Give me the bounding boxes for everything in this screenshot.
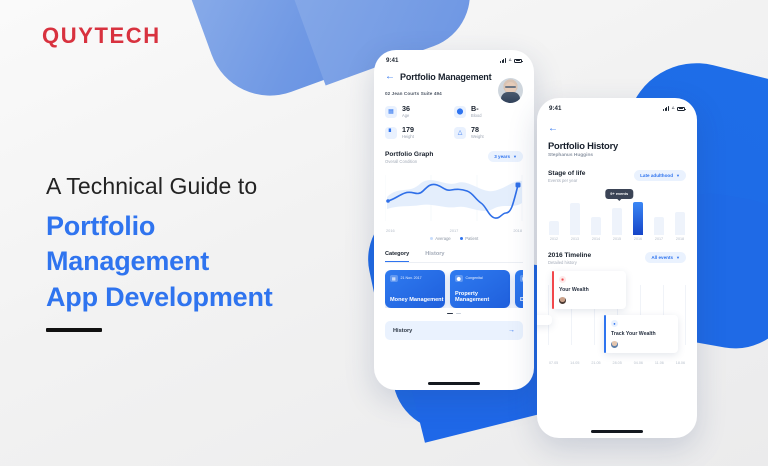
tab-category[interactable]: Category (385, 251, 409, 262)
card-meta-row: ▦ 21 Nov. 2017 (390, 275, 440, 283)
signal-bars-icon (500, 58, 506, 63)
wifi-icon: ▵ (672, 106, 675, 112)
bar-2015[interactable] (612, 208, 622, 235)
timeline-filter-dropdown[interactable]: All events ▼ (645, 252, 686, 263)
stat-blood-value: B- (471, 105, 481, 113)
stat-height-value: 179 (402, 126, 414, 134)
category-history-tabs: Category History (385, 251, 523, 263)
category-card-property[interactable]: ⬤ Congenital Property Management (450, 270, 510, 308)
timeline-tick-4: 04.06 (634, 361, 643, 365)
page-title: Portfolio Management (400, 72, 492, 82)
back-arrow-icon[interactable]: ← (385, 72, 395, 82)
carousel-dot-active[interactable] (447, 313, 453, 315)
bar-axis-2018: 2018 (675, 237, 685, 241)
phone1-content: 02 Jean Courts Suite 494 ▦ 36 Age ⬤ B- B… (374, 82, 534, 340)
status-time: 9:41 (549, 105, 561, 112)
battery-icon (677, 107, 685, 111)
graph-range-dropdown[interactable]: 3 years ▼ (488, 151, 523, 162)
legend-item-patient: Patient (460, 236, 479, 241)
status-bar: 9:41 ▵ (374, 50, 534, 66)
home-indicator (591, 430, 643, 433)
bar-tooltip: 9+ events (605, 189, 633, 199)
timeline-canvas: ✸ Your Wealth ● Track Your Wealth (548, 271, 686, 359)
timeline-date-axis: 07.05 14.05 21.05 28.05 04.06 11.06 18.0… (548, 361, 686, 365)
status-icons: ▵ (663, 106, 685, 112)
stage-filter-dropdown[interactable]: Late adulthood ▼ (634, 170, 686, 181)
bar-axis-2012: 2012 (549, 237, 559, 241)
stat-age: ▦ 36 Age (385, 105, 454, 118)
timeline-tick-3: 28.05 (613, 361, 622, 365)
stat-height-label: Height (402, 134, 414, 139)
status-icons: ▵ (500, 58, 522, 64)
timeline-tick-0: 07.05 (549, 361, 558, 365)
headline-line-3: App Development (46, 280, 366, 316)
stats-grid: ▦ 36 Age ⬤ B- Blood ▘ 179 (385, 105, 523, 139)
stat-age-label: Age (402, 113, 410, 118)
card-title: Money Management (390, 297, 443, 303)
phone-mockup-portfolio-history: 9:41 ▵ ← Portfolio History Stephanus Hug… (537, 98, 697, 438)
stat-weight: △ 78 Weight (454, 126, 523, 139)
history-button-label: History (393, 328, 412, 334)
timeline-event-track-your-wealth[interactable]: ● Track Your Wealth (604, 315, 678, 353)
weight-scale-icon: △ (454, 127, 466, 139)
card-date: 21 Nov. 2017 (401, 276, 422, 280)
calendar-icon: ▦ (385, 106, 397, 118)
history-button[interactable]: History → (385, 321, 523, 340)
legend-label-average: Average (435, 236, 451, 241)
bar-2013[interactable] (570, 203, 580, 235)
legend-label-patient: Patient (465, 236, 478, 241)
status-bar: 9:41 ▵ (537, 98, 697, 114)
legend-swatch-patient (460, 237, 463, 240)
card-meta: Congenital (466, 276, 483, 280)
avatar[interactable] (498, 78, 523, 103)
headline-line-2: Management (46, 244, 366, 280)
average-band-area (387, 180, 522, 211)
bar-axis-2013: 2013 (570, 237, 580, 241)
card-meta-row: ▦ Report (520, 275, 523, 283)
line-chart-axis: 2016 2017 2018 (385, 228, 523, 233)
bar-2014[interactable] (591, 217, 601, 235)
stat-age-value: 36 (402, 105, 410, 113)
card-title: Debt Management (520, 297, 523, 303)
headline-block: A Technical Guide to Portfolio Managemen… (46, 172, 366, 332)
category-card-carousel[interactable]: ▦ 21 Nov. 2017 Money Management ⬤ Congen… (385, 270, 523, 308)
timeline-tick-6: 18.06 (676, 361, 685, 365)
bar-axis-2014: 2014 (591, 237, 601, 241)
line-chart-svg (385, 169, 523, 227)
status-time: 9:41 (386, 57, 398, 64)
bar-2017[interactable] (654, 217, 664, 235)
subject-name: Stephanus Huggins (548, 153, 686, 158)
axis-tick-2018: 2018 (513, 228, 522, 233)
stat-blood-label: Blood (471, 113, 481, 118)
legend-swatch-average (430, 237, 433, 240)
timeline-event-offscreen (537, 315, 552, 325)
dna-icon: ⬤ (455, 275, 463, 283)
bar-2018[interactable] (675, 212, 685, 235)
stat-weight-value: 78 (471, 126, 484, 134)
poster-canvas: QUYTECH A Technical Guide to Portfolio M… (0, 0, 768, 466)
card-title: Property Management (455, 291, 510, 304)
timeline-tick-5: 11.06 (655, 361, 664, 365)
timeline-header: 2016 Timeline Detailed history All event… (548, 252, 686, 265)
wifi-icon: ▵ (509, 58, 512, 64)
arrow-right-icon: → (508, 327, 515, 334)
stage-title: Stage of life (548, 170, 585, 177)
stat-weight-label: Weight (471, 134, 484, 139)
timeline-title: 2016 Timeline (548, 252, 591, 259)
bar-2012[interactable] (549, 221, 559, 235)
timeline-filter-label: All events (651, 255, 673, 260)
category-card-money[interactable]: ▦ 21 Nov. 2017 Money Management (385, 270, 445, 308)
headline-main: Portfolio Management App Development (46, 209, 366, 316)
timeline-tick-2: 21.05 (591, 361, 600, 365)
stat-height: ▘ 179 Height (385, 126, 454, 139)
page-title: Portfolio History (548, 140, 686, 151)
card-meta-row: ⬤ Congenital (455, 275, 505, 283)
legend-item-average: Average (430, 236, 451, 241)
back-arrow-icon[interactable]: ← (548, 124, 686, 134)
headline-kicker: A Technical Guide to (46, 172, 366, 201)
height-bars-icon: ▘ (385, 127, 397, 139)
calendar-icon: ▦ (390, 275, 398, 283)
graph-range-label: 3 years (494, 154, 510, 159)
axis-tick-2016: 2016 (386, 228, 395, 233)
carousel-pagination[interactable] (385, 313, 523, 315)
line-chart-legend: Average Patient (385, 236, 523, 241)
stage-subtitle: Events per year (548, 178, 585, 183)
category-card-debt[interactable]: ▦ Report Debt Management (515, 270, 523, 308)
signal-bars-icon (663, 106, 669, 111)
graph-subtitle: Overall Condition (385, 159, 433, 164)
timeline-tick-1: 14.05 (570, 361, 579, 365)
blood-drop-icon: ⬤ (454, 106, 466, 118)
graph-title: Portfolio Graph (385, 151, 433, 158)
chevron-down-icon: ▼ (513, 154, 517, 159)
chevron-down-icon: ▼ (676, 255, 680, 260)
chevron-down-icon: ▼ (676, 173, 680, 178)
tab-history[interactable]: History (425, 251, 444, 262)
graph-header: Portfolio Graph Overall Condition 3 year… (385, 151, 523, 164)
timeline-subtitle: Detailed history (548, 260, 591, 265)
timeline-event-avatar (611, 341, 618, 348)
stage-of-life-bar-chart: 9+ events 2012 2013 2014 2015 2016 2 (548, 189, 686, 241)
stage-of-life-header: Stage of life Events per year Late adult… (548, 170, 686, 183)
brand-logo: QUYTECH (42, 23, 161, 49)
timeline-event-title: Track Your Wealth (611, 331, 672, 337)
line-end-point (516, 183, 521, 188)
phone2-content: ← Portfolio History Stephanus Huggins St… (537, 114, 697, 365)
doc-icon: ▦ (520, 275, 523, 283)
bar-chart-axis: 2012 2013 2014 2015 2016 2017 2018 (548, 237, 686, 241)
timeline-event-avatar (559, 297, 566, 304)
axis-tick-2017: 2017 (450, 228, 459, 233)
stage-filter-label: Late adulthood (640, 173, 673, 178)
bar-axis-2016: 2016 (633, 237, 643, 241)
carousel-dot[interactable] (456, 313, 461, 315)
phone-mockup-portfolio-management: 9:41 ▵ ← Portfolio Management 02 Jean Co… (374, 50, 534, 390)
avatar-glasses (505, 86, 516, 89)
timeline-event-title: Your Wealth (559, 287, 620, 293)
bar-axis-2015: 2015 (612, 237, 622, 241)
battery-icon (514, 59, 522, 63)
bar-axis-2017: 2017 (654, 237, 664, 241)
headline-line-1: Portfolio (46, 209, 366, 245)
bar-2016-selected[interactable] (633, 202, 643, 235)
stat-blood: ⬤ B- Blood (454, 105, 523, 118)
pin-icon: ● (611, 320, 618, 327)
portfolio-line-chart (385, 169, 523, 227)
home-indicator (428, 382, 480, 385)
line-start-point (386, 199, 390, 203)
headline-underline (46, 328, 102, 332)
alert-dot-icon: ✸ (559, 276, 566, 283)
timeline-event-your-wealth[interactable]: ✸ Your Wealth (552, 271, 626, 309)
